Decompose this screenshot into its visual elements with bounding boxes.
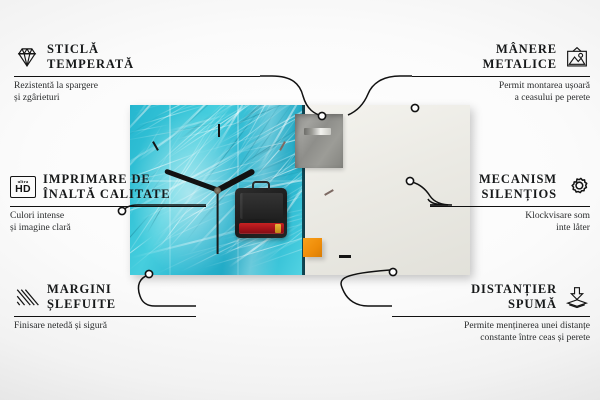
- callout-rule: [14, 316, 196, 317]
- callout-title: MECANISMSILENȚIOS: [479, 172, 557, 203]
- callout-header: MÂNEREMETALICE: [412, 42, 590, 73]
- callout-title: IMPRIMARE DEÎNALTĂ CALITATE: [43, 172, 171, 203]
- callout-header: STICLĂTEMPERATĂ: [14, 42, 260, 73]
- callout-title: MÂNEREMETALICE: [483, 42, 557, 73]
- hand-center-cap: [214, 187, 221, 194]
- hour-hand: [216, 168, 255, 193]
- callout-subtitle: Rezistentă la spargereși zgârieturi: [14, 80, 260, 105]
- download-onto-layer-icon: [564, 284, 590, 310]
- foam-spacer: [303, 238, 322, 257]
- clock-tick: [218, 124, 220, 190]
- callout-tempered-glass: STICLĂTEMPERATĂ Rezistentă la spargereși…: [14, 42, 260, 104]
- connector-distantier: [341, 270, 392, 306]
- callout-subtitle: Permit montarea ușoarăa ceasului pe pere…: [412, 80, 590, 105]
- callout-header: MARGINIȘLEFUITE: [14, 282, 196, 313]
- clock-tick: [251, 141, 286, 199]
- callout-metal-handles: MÂNEREMETALICE Permit montarea ușoarăa c…: [412, 42, 590, 104]
- callout-header: DISTANȚIERSPUMĂ: [392, 282, 590, 313]
- callout-rule: [412, 76, 590, 77]
- hanging-picture-frame-icon: [564, 44, 590, 70]
- callout-subtitle: Permite menținerea unei distanțeconstant…: [392, 320, 590, 345]
- polished-edge-lines-icon: [14, 284, 40, 310]
- hanger-bracket: [304, 128, 332, 135]
- ultra-hd-icon: ultra HD: [10, 176, 36, 198]
- callout-polished-edges: MARGINIȘLEFUITE Finisare netedă și sigur…: [14, 282, 196, 332]
- callout-rule: [10, 206, 206, 207]
- callout-title: STICLĂTEMPERATĂ: [47, 42, 134, 73]
- callout-rule: [392, 316, 590, 317]
- diamond-icon: [14, 44, 40, 70]
- ultra-hd-icon-large-text: HD: [15, 184, 31, 195]
- callout-foam-spacer: DISTANȚIERSPUMĂ Permite menținerea unei …: [392, 282, 590, 344]
- callout-rule: [14, 76, 260, 77]
- second-hand: [217, 190, 219, 254]
- callout-subtitle: Finisare netedă și sigură: [14, 320, 196, 332]
- callout-header: MECANISMSILENȚIOS: [430, 172, 590, 203]
- callout-title: MARGINIȘLEFUITE: [47, 282, 116, 313]
- callout-subtitle: Culori intenseși imagine clară: [10, 210, 206, 235]
- callout-silent-mechanism: MECANISMSILENȚIOS Klockvisare sominte lå…: [430, 172, 590, 234]
- callout-header: ultra HD IMPRIMARE DEÎNALTĂ CALITATE: [10, 172, 206, 203]
- callout-subtitle: Klockvisare sominte låter: [430, 210, 590, 235]
- gear-icon: [564, 174, 590, 200]
- clock-tick: [130, 255, 153, 257]
- clock-tick: [285, 255, 351, 257]
- callout-rule: [430, 206, 590, 207]
- infographic-canvas: STICLĂTEMPERATĂ Rezistentă la spargereși…: [0, 0, 600, 400]
- callout-high-quality-print: ultra HD IMPRIMARE DEÎNALTĂ CALITATE Cul…: [10, 172, 206, 234]
- callout-title: DISTANȚIERSPUMĂ: [471, 282, 557, 313]
